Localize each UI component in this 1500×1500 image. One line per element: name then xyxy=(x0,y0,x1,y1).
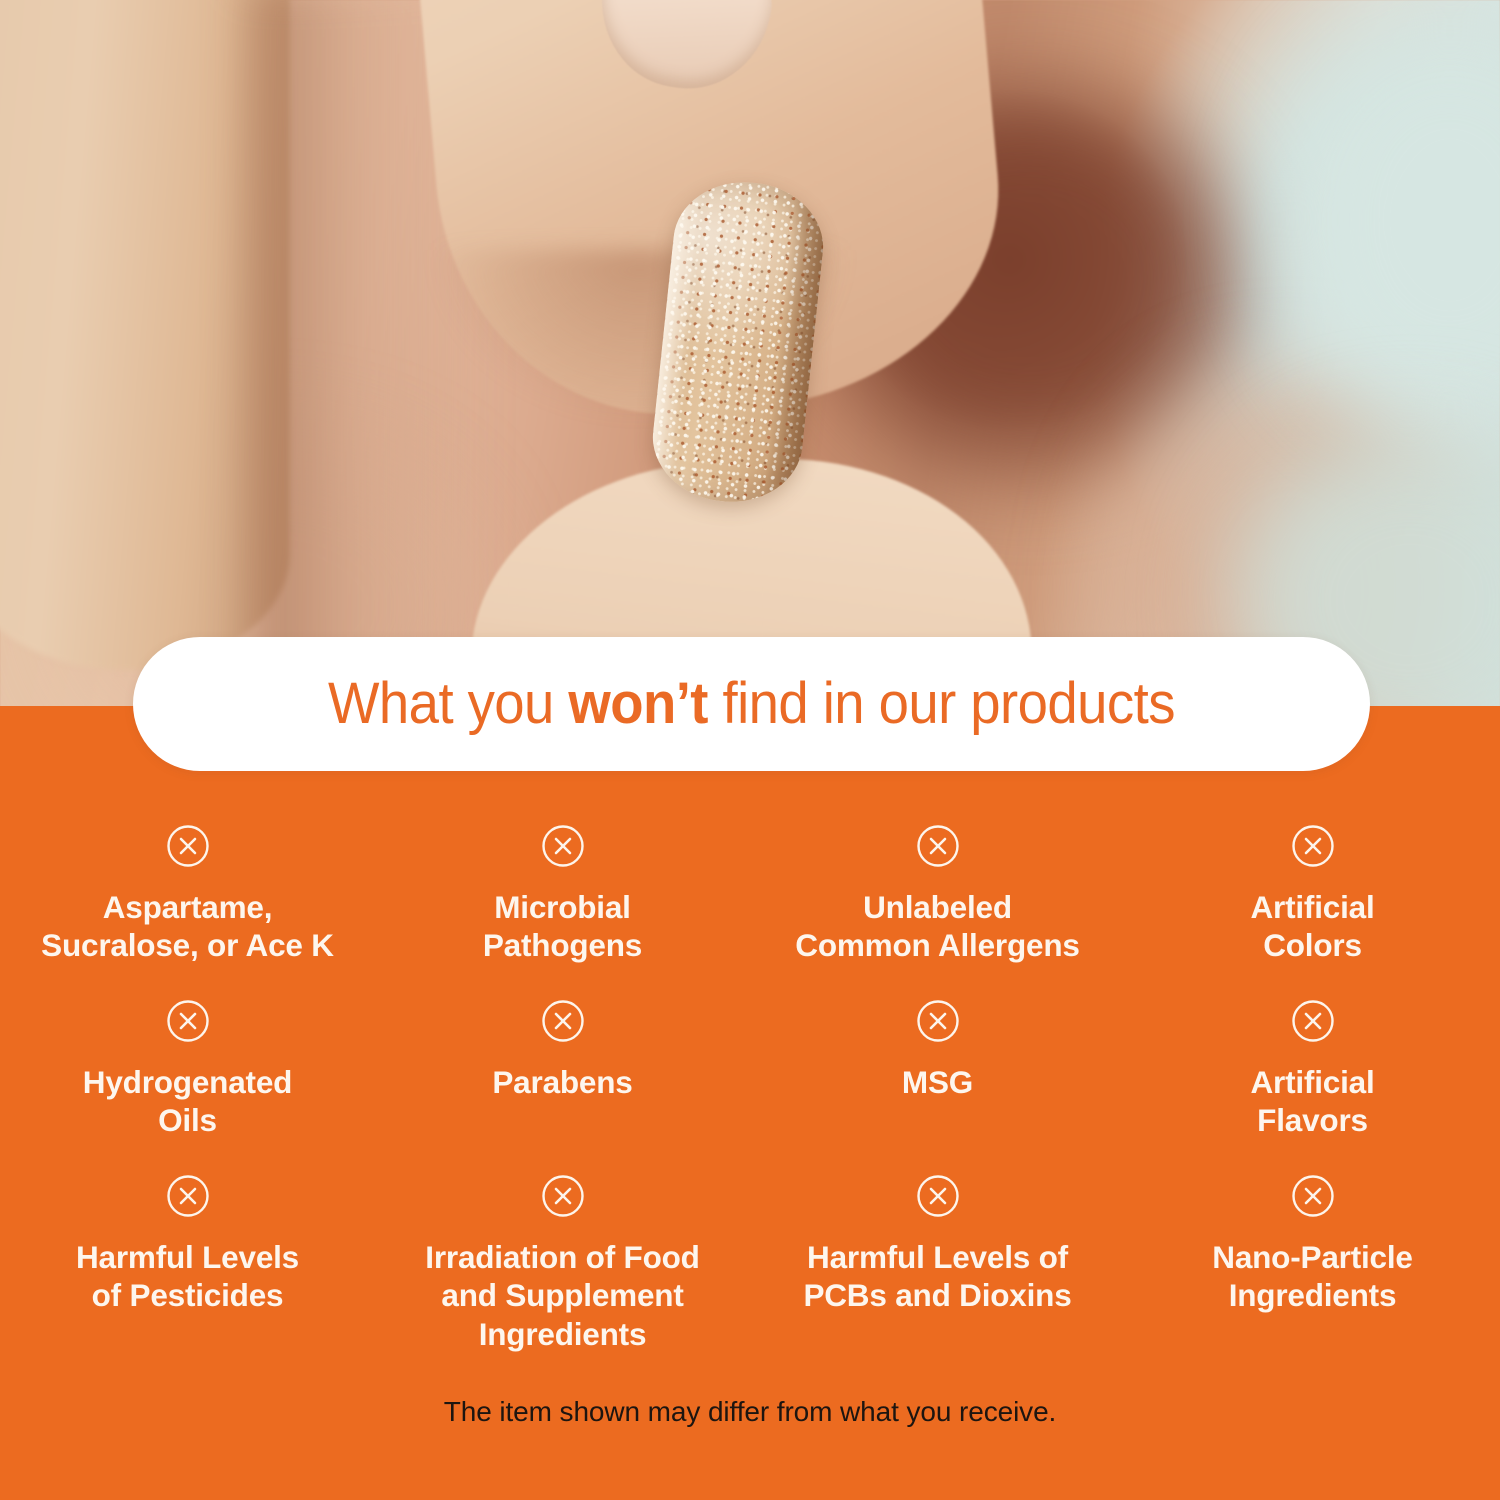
exclusion-item-aspartame-sucralose-ace-k: Aspartame, Sucralose, or Ace K xyxy=(0,812,375,987)
title-part-after: find in our products xyxy=(708,671,1175,736)
hero-photo xyxy=(0,0,1500,710)
exclusion-item-nano-particle-ingredients: Nano-Particle Ingredients xyxy=(1125,1162,1500,1337)
title-card: What you won’t find in our products xyxy=(133,637,1370,771)
exclusion-label: Harmful Levels of Pesticides xyxy=(76,1238,299,1315)
exclusion-item-hydrogenated-oils: Hydrogenated Oils xyxy=(0,987,375,1162)
exclusion-label: MSG xyxy=(902,1063,973,1101)
exclusion-label: Aspartame, Sucralose, or Ace K xyxy=(41,888,334,965)
exclusion-label: Irradiation of Food and Supplement Ingre… xyxy=(425,1238,699,1353)
exclusion-label: Parabens xyxy=(492,1063,632,1101)
exclusion-item-msg: MSG xyxy=(750,987,1125,1162)
exclusion-label: Artificial Flavors xyxy=(1250,1063,1374,1140)
out-of-focus-finger xyxy=(0,0,290,670)
circle-x-icon xyxy=(916,1174,960,1218)
exclusion-grid: Aspartame, Sucralose, or Ace K Microbial… xyxy=(0,812,1500,1337)
exclusion-label: Harmful Levels of PCBs and Dioxins xyxy=(803,1238,1071,1315)
circle-x-icon xyxy=(166,999,210,1043)
title-part-before: What you xyxy=(328,671,568,736)
circle-x-icon xyxy=(541,999,585,1043)
circle-x-icon xyxy=(166,1174,210,1218)
title-emphasis: won’t xyxy=(568,671,708,736)
disclaimer-text: The item shown may differ from what you … xyxy=(0,1396,1500,1428)
circle-x-icon xyxy=(916,999,960,1043)
circle-x-icon xyxy=(166,824,210,868)
circle-x-icon xyxy=(541,1174,585,1218)
exclusion-item-parabens: Parabens xyxy=(375,987,750,1162)
exclusion-item-microbial-pathogens: Microbial Pathogens xyxy=(375,812,750,987)
circle-x-icon xyxy=(1291,824,1335,868)
infographic-page: What you won’t find in our products Aspa… xyxy=(0,0,1500,1500)
page-title: What you won’t find in our products xyxy=(328,675,1175,733)
exclusion-item-artificial-colors: Artificial Colors xyxy=(1125,812,1500,987)
exclusion-label: Nano-Particle Ingredients xyxy=(1212,1238,1412,1315)
exclusion-label: Hydrogenated Oils xyxy=(83,1063,292,1140)
exclusion-item-unlabeled-common-allergens: Unlabeled Common Allergens xyxy=(750,812,1125,987)
exclusion-label: Artificial Colors xyxy=(1250,888,1374,965)
exclusion-label: Microbial Pathogens xyxy=(483,888,642,965)
circle-x-icon xyxy=(916,824,960,868)
exclusion-item-harmful-levels-of-pcbs-and-dioxins: Harmful Levels of PCBs and Dioxins xyxy=(750,1162,1125,1337)
exclusion-item-harmful-levels-of-pesticides: Harmful Levels of Pesticides xyxy=(0,1162,375,1337)
circle-x-icon xyxy=(1291,999,1335,1043)
exclusion-item-artificial-flavors: Artificial Flavors xyxy=(1125,987,1500,1162)
circle-x-icon xyxy=(541,824,585,868)
exclusion-label: Unlabeled Common Allergens xyxy=(795,888,1079,965)
circle-x-icon xyxy=(1291,1174,1335,1218)
exclusion-item-irradiation-of-food-and-supplement-ingredients: Irradiation of Food and Supplement Ingre… xyxy=(375,1162,750,1337)
